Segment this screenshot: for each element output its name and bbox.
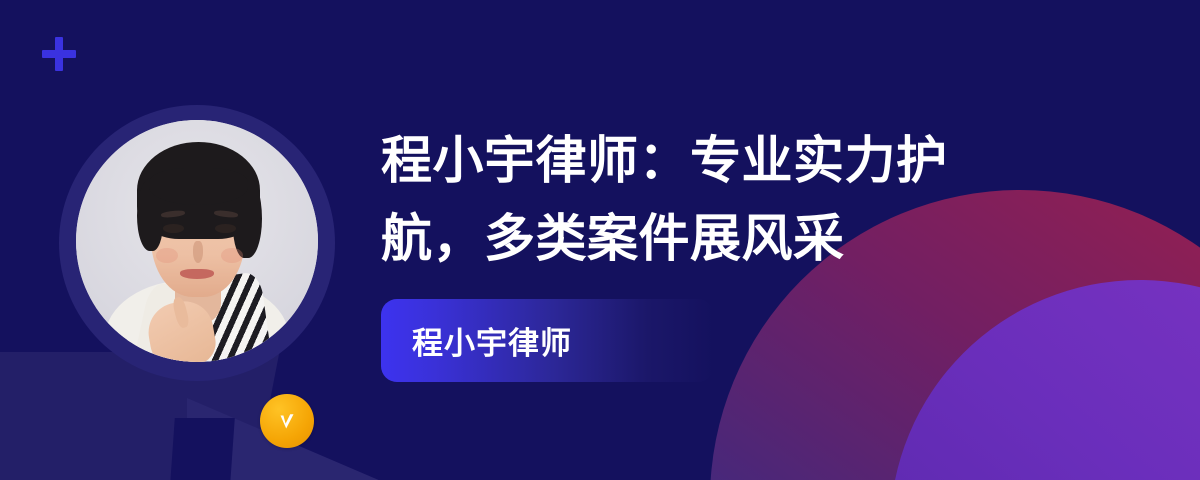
plus-icon-vertical-bar <box>55 37 63 71</box>
avatar[interactable] <box>59 105 335 381</box>
portrait-illustration <box>76 120 318 362</box>
portrait-mouth <box>180 269 214 279</box>
portrait-nose <box>193 241 203 263</box>
portrait-cheek-right <box>221 248 243 263</box>
lawyer-name-chip[interactable]: 程小宇律师 <box>381 299 714 382</box>
verified-badge-icon <box>260 394 314 448</box>
portrait-eye-left <box>163 224 184 233</box>
lawyer-promo-banner: 程小宇律师：专业实力护 航，多类案件展风采 程小宇律师 <box>0 0 1200 480</box>
avatar-photo <box>76 120 318 362</box>
page-title: 程小宇律师：专业实力护 航，多类案件展风采 <box>381 122 1071 278</box>
lawyer-name-label: 程小宇律师 <box>412 318 572 363</box>
plus-icon <box>42 37 76 71</box>
decorative-notch-shape <box>169 418 235 480</box>
portrait-eye-right <box>215 224 236 233</box>
portrait-cheek-left <box>156 248 178 263</box>
portrait-bangs <box>149 168 248 204</box>
text-content: 程小宇律师：专业实力护 航，多类案件展风采 程小宇律师 <box>381 0 1081 480</box>
